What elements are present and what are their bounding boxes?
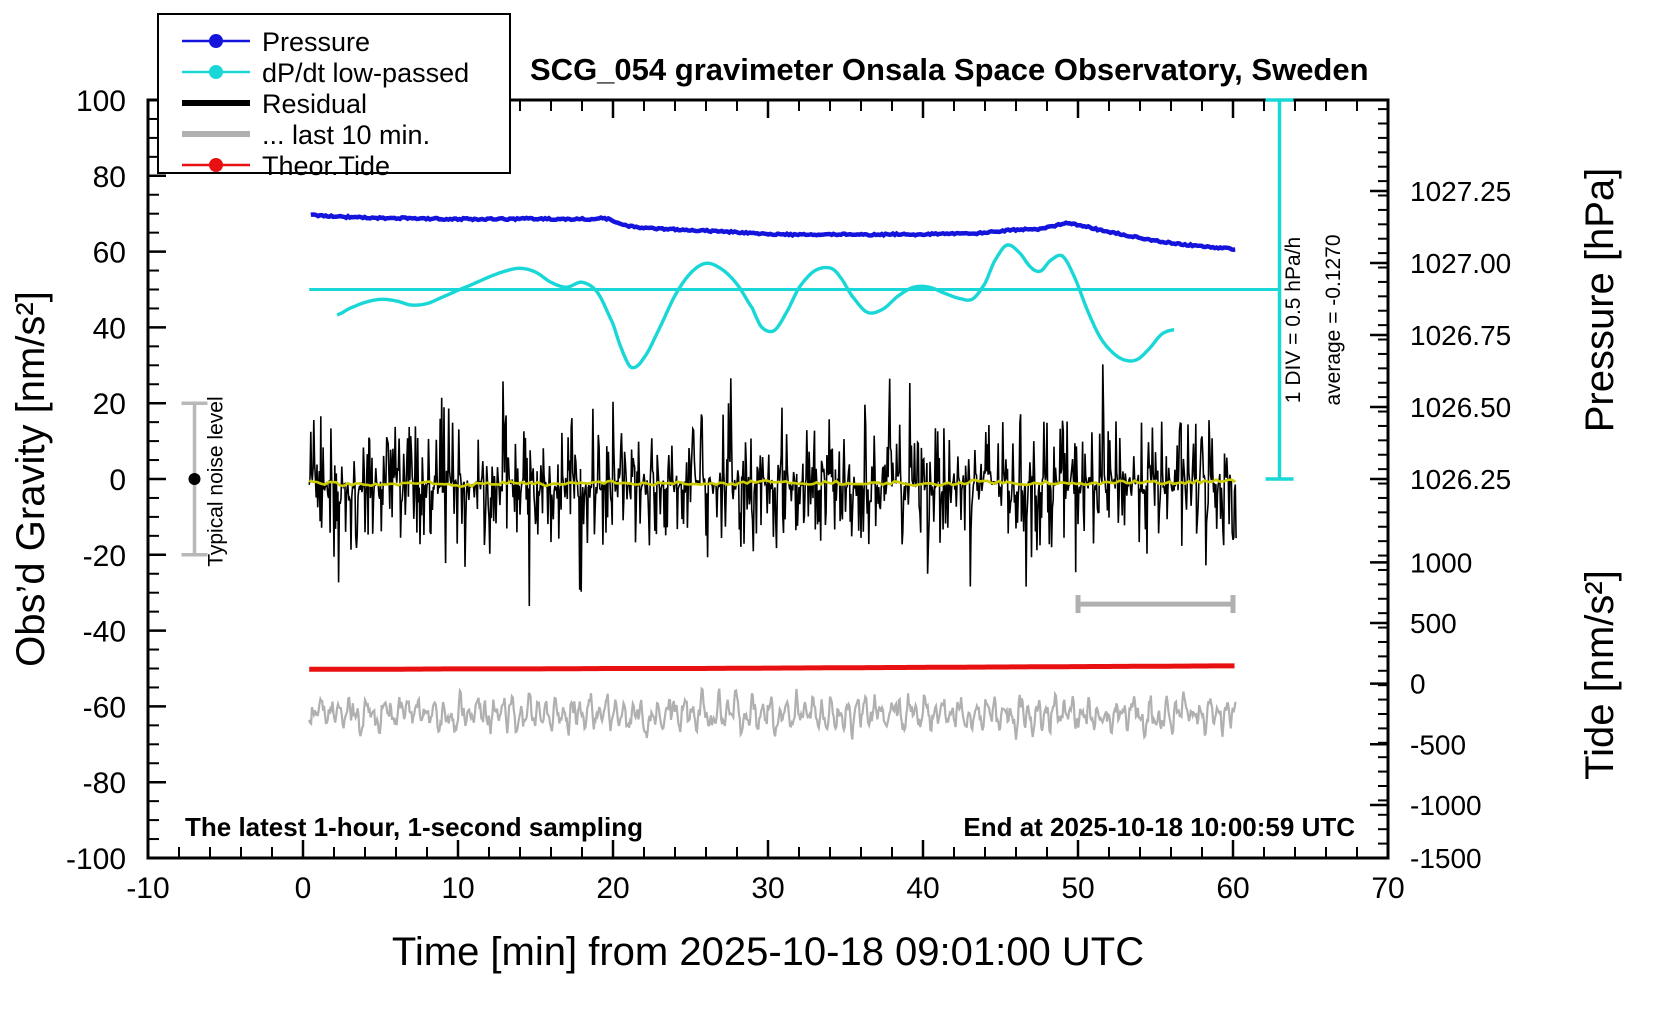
pressure-tick-label: 1027.00 xyxy=(1410,248,1511,279)
y-tick-label: -60 xyxy=(83,691,126,724)
chart-figure: -10010203040506070 -100-80-60-40-2002040… xyxy=(0,0,1660,1020)
footer-left-note: The latest 1-hour, 1-second sampling xyxy=(185,812,643,842)
y-tick-label: 0 xyxy=(109,464,126,497)
y-tick-label: 60 xyxy=(93,237,126,270)
x-tick-label: 70 xyxy=(1371,872,1404,905)
chart-title: SCG_054 gravimeter Onsala Space Observat… xyxy=(530,52,1369,87)
legend-label: Theor.Tide xyxy=(262,151,390,181)
x-tick-label: 10 xyxy=(441,872,474,905)
x-tick-label: 40 xyxy=(906,872,939,905)
y-tick-label: -100 xyxy=(66,843,126,876)
y-tick-label: 80 xyxy=(93,161,126,194)
y-tick-label: 40 xyxy=(93,312,126,345)
y-tick-label: 100 xyxy=(76,85,126,118)
y-tick-label: 20 xyxy=(93,388,126,421)
tide-tick-label: -1000 xyxy=(1410,790,1482,821)
x-axis-title: Time [min] from 2025-10-18 09:01:00 UTC xyxy=(392,930,1144,974)
tide-tick-label: 1000 xyxy=(1410,547,1472,578)
y-axis-title-pressure: Pressure [hPa] xyxy=(1578,168,1622,433)
footer-right-note: End at 2025-10-18 10:00:59 UTC xyxy=(963,812,1355,842)
x-tick-label: 20 xyxy=(596,872,629,905)
pressure-tick-label: 1026.75 xyxy=(1410,320,1511,351)
pressure-tick-label: 1027.25 xyxy=(1410,176,1511,207)
legend-label: Residual xyxy=(262,89,367,119)
y-tick-label: -40 xyxy=(83,616,126,649)
chart-svg: -10010203040506070 -100-80-60-40-2002040… xyxy=(0,0,1660,1020)
pressure-tick-label: 1026.50 xyxy=(1410,392,1511,423)
tide-tick-label: 0 xyxy=(1410,669,1426,700)
y-axis-title-tide: Tide [nm/s²] xyxy=(1578,570,1622,780)
x-tick-label: 50 xyxy=(1061,872,1094,905)
x-tick-label: 0 xyxy=(295,872,312,905)
pressure-division-label: 1 DIV = 0.5 hPa/h xyxy=(1282,237,1305,403)
legend-marker xyxy=(209,158,223,172)
legend[interactable]: PressuredP/dt low-passedResidual... last… xyxy=(158,14,510,181)
legend-label: ... last 10 min. xyxy=(262,120,430,150)
x-tick-label: 60 xyxy=(1216,872,1249,905)
tide-tick-label: -1500 xyxy=(1410,843,1482,874)
series-theor-tide xyxy=(309,666,1234,669)
tide-tick-label: 500 xyxy=(1410,608,1457,639)
legend-marker xyxy=(209,65,223,79)
legend-marker xyxy=(209,34,223,48)
y-tick-label: -80 xyxy=(83,767,126,800)
y-tick-label: -20 xyxy=(83,540,126,573)
x-tick-label: 30 xyxy=(751,872,784,905)
noise-level-label: Typical noise level xyxy=(205,396,228,566)
legend-label: dP/dt low-passed xyxy=(262,58,469,88)
x-tick-label: -10 xyxy=(126,872,169,905)
tide-tick-label: -500 xyxy=(1410,729,1466,760)
legend-label: Pressure xyxy=(262,27,370,57)
noise-center-dot xyxy=(189,473,201,485)
y-axis-title-left: Obs’d Gravity [nm/s²] xyxy=(9,291,53,667)
pressure-tick-label: 1026.25 xyxy=(1410,464,1511,495)
pressure-average-label: average = -0.1270 xyxy=(1322,234,1345,405)
